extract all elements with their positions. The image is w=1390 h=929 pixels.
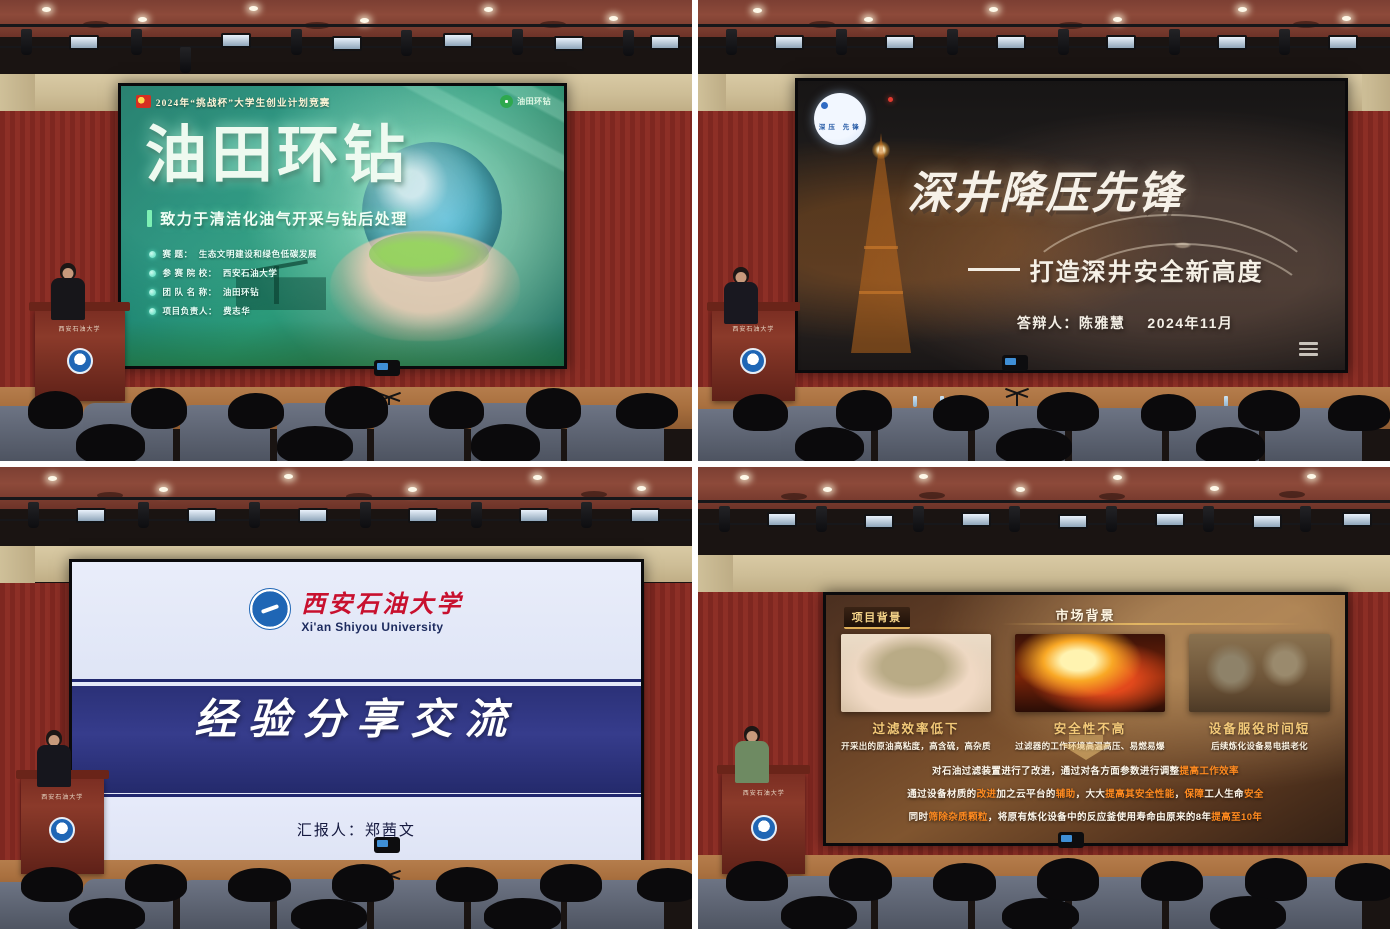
presenter-line: 答辩人：陈雅慧	[1017, 313, 1126, 333]
conclusion-line: 通过设备材质的改进加之云平台的辅助，大大提高其安全性能，保障工人生命安全	[852, 786, 1320, 800]
body-text: 同时	[909, 812, 929, 823]
podium-label: 西安石油大学	[41, 792, 83, 801]
conclusion-line: 对石油过滤装置进行了改进，通过对各方面参数进行调整提高工作效率	[852, 763, 1320, 777]
slide-title: 油田环钻	[145, 125, 409, 187]
bullet-value: 生态文明建设和绿色低碳发展	[199, 248, 317, 260]
video-camera	[374, 837, 400, 853]
audience	[0, 378, 692, 461]
presenter-body	[37, 745, 71, 787]
bullet-value: 油田环钻	[223, 286, 259, 298]
presenter	[722, 267, 760, 325]
bullet-dot-icon	[149, 308, 156, 315]
body-text: 加之云平台的	[996, 789, 1055, 800]
slide-title: 深井降压先锋	[907, 157, 1183, 221]
body-text: ，	[1175, 789, 1185, 800]
university-emblem-icon	[751, 815, 777, 841]
video-camera	[1002, 355, 1028, 371]
photo-collage: 2024年“挑战杯”大学生创业计划竞赛 油田环钻 油田环钻 致力于清洁化油气开采…	[0, 0, 1390, 929]
lighting-truss	[698, 490, 1390, 564]
slide-subtitle: 致力于清洁化油气开采与钻后处理	[147, 208, 408, 229]
bullet-label: 项目负责人：	[162, 305, 217, 317]
title-underline	[1002, 623, 1304, 625]
rig-tower	[851, 133, 911, 353]
highlighted-text: 改进	[977, 789, 997, 800]
flame-burner-photo	[1015, 634, 1165, 712]
section-tag: 项目背景	[844, 607, 910, 629]
bullet-dot-icon	[149, 251, 156, 258]
bullet-label: 团 队 名 称：	[162, 286, 216, 298]
slide-subtitle: 打造深井安全新高度	[968, 252, 1264, 287]
presenter-body	[735, 741, 769, 783]
highlighted-text: 提高至10年	[1211, 812, 1262, 823]
stage-wall	[698, 555, 1390, 592]
highlighted-text: 辅助	[1056, 789, 1076, 800]
panel-bottom-right[interactable]: 项目背景 市场背景 过滤效率低下 开采出的原油高粘度，高含硫，高杂质 安全性不高…	[698, 467, 1390, 929]
university-emblem-icon	[49, 817, 75, 843]
audience	[698, 850, 1390, 929]
project-badge: 深压 先锋	[814, 93, 866, 145]
slide-title: 经验分享交流	[194, 686, 518, 747]
bullet-value: 费志华	[223, 305, 250, 317]
badge-dot-icon	[821, 102, 828, 109]
subtitle-accent-bar	[147, 210, 152, 227]
university-emblem-icon	[67, 348, 93, 374]
list-item: 设备服役时间短 后续炼化设备易电损老化	[1189, 634, 1330, 752]
highlighted-text: 筛除杂质颗粒	[928, 812, 987, 823]
body-text: 工人生命	[1204, 789, 1244, 800]
body-text: 通过设备材质的	[907, 789, 976, 800]
brand-logo-text: 油田环钻	[517, 96, 551, 107]
leaf-logo-icon	[500, 95, 513, 108]
panel-bottom-left[interactable]: 西安石油大学 Xi'an Shiyou University 经验分享交流 汇报…	[0, 467, 692, 929]
badge-text: 深压 先锋	[819, 121, 862, 131]
divider	[72, 679, 640, 682]
presenter	[35, 730, 73, 790]
presentation-screen[interactable]: 西安石油大学 Xi'an Shiyou University 经验分享交流 汇报…	[69, 559, 643, 873]
presenter	[733, 726, 771, 786]
university-name-en: Xi'an Shiyou University	[301, 620, 463, 634]
date-line: 2024年11月	[1147, 313, 1233, 333]
list-item: 参 赛 院 校： 西安石油大学	[149, 267, 317, 279]
list-item: 项目负责人： 费志华	[149, 305, 317, 317]
presenter	[48, 263, 88, 323]
card-caption: 开采出的原油高粘度，高含硫，高杂质	[841, 740, 991, 752]
video-camera	[374, 360, 400, 376]
conclusion-line: 同时筛除杂质颗粒，将原有炼化设备中的反应釜使用寿命由原来的8年提高至10年	[852, 809, 1320, 823]
competition-header-text: 2024年“挑战杯”大学生创业计划竞赛	[156, 95, 331, 109]
lighting-truss	[698, 14, 1390, 83]
audience	[0, 855, 692, 929]
university-emblem-icon	[740, 348, 766, 374]
highlighted-text: 提高工作效率	[1180, 766, 1239, 777]
university-seal-icon	[249, 588, 291, 630]
video-camera	[1058, 832, 1084, 848]
highlighted-text: 安全	[1244, 789, 1264, 800]
body-text: ，将原有炼化设备中的反应釜使用寿命由原来的8年	[988, 812, 1211, 823]
slide-bullet-list: 赛 题： 生态文明建设和绿色低碳发展 参 赛 院 校： 西安石油大学 团 队 名…	[149, 248, 317, 317]
panel-top-left[interactable]: 2024年“挑战杯”大学生创业计划竞赛 油田环钻 油田环钻 致力于清洁化油气开采…	[0, 0, 692, 461]
slide-subtitle-text: 致力于清洁化油气开采与钻后处理	[160, 208, 408, 229]
bullet-label: 参 赛 院 校：	[162, 267, 216, 279]
bullet-dot-icon	[149, 270, 156, 277]
presentation-screen[interactable]: 项目背景 市场背景 过滤效率低下 开采出的原油高粘度，高含硫，高杂质 安全性不高…	[823, 592, 1349, 846]
slide-title: 市场背景	[1055, 605, 1115, 624]
presenter-body	[724, 282, 758, 324]
presentation-screen[interactable]: 深压 先锋 深井降压先锋 打造深井安全新高度 答辩人：陈雅慧 2024年11月	[795, 78, 1349, 373]
subtitle-dash	[968, 268, 1020, 271]
status-dot-icon	[888, 97, 893, 102]
slide-meta: 答辩人：陈雅慧 2024年11月	[1017, 313, 1233, 333]
rusted-bolts-photo	[1189, 634, 1330, 712]
competition-header: 2024年“挑战杯”大学生创业计划竞赛	[136, 95, 331, 109]
divider	[72, 794, 640, 797]
hamburger-icon[interactable]	[1299, 342, 1318, 356]
arrow-stem	[1069, 735, 1103, 742]
slide-subtitle-text: 打造深井安全新高度	[1030, 252, 1264, 287]
bullet-value: 西安石油大学	[223, 267, 278, 279]
sand-in-hand-photo	[841, 634, 991, 712]
slide-ground	[121, 321, 565, 366]
body-text: 对石油过滤装置进行了改进，通过对各方面参数进行调整	[932, 766, 1180, 777]
podium-label: 西安石油大学	[59, 324, 101, 333]
bullet-dot-icon	[149, 289, 156, 296]
university-logo: 西安石油大学 Xi'an Shiyou University	[249, 584, 463, 634]
list-item: 赛 题： 生态文明建设和绿色低碳发展	[149, 248, 317, 260]
panel-top-right[interactable]: 深压 先锋 深井降压先锋 打造深井安全新高度 答辩人：陈雅慧 2024年11月 …	[698, 0, 1390, 461]
presenter-body	[51, 278, 85, 320]
list-item: 过滤效率低下 开采出的原油高粘度，高含硫，高杂质	[841, 634, 991, 752]
highlighted-text: 保障	[1185, 789, 1205, 800]
brand-logo: 油田环钻	[500, 95, 551, 108]
highlighted-text: 提高其安全性能	[1105, 789, 1174, 800]
rig-beam	[859, 291, 903, 294]
youth-league-emblem-icon	[136, 95, 151, 108]
card-heading: 过滤效率低下	[872, 718, 959, 737]
bullet-label: 赛 题：	[162, 248, 192, 260]
body-text: ，大大	[1076, 789, 1106, 800]
conclusion-list: 对石油过滤装置进行了改进，通过对各方面参数进行调整提高工作效率 通过设备材质的改…	[852, 763, 1320, 823]
podium-label: 西安石油大学	[743, 788, 785, 797]
rig-beam	[864, 246, 898, 249]
lighting-truss	[0, 485, 692, 554]
card-caption: 后续炼化设备易电损老化	[1211, 740, 1308, 752]
card-heading: 设备服役时间短	[1209, 718, 1311, 737]
lighting-truss	[0, 14, 692, 83]
arrow-down-icon	[1060, 744, 1112, 760]
list-item: 团 队 名 称： 油田环钻	[149, 286, 317, 298]
university-name-cn: 西安石油大学	[301, 584, 463, 619]
audience	[698, 383, 1390, 461]
presentation-screen[interactable]: 2024年“挑战杯”大学生创业计划竞赛 油田环钻 油田环钻 致力于清洁化油气开采…	[118, 83, 568, 369]
